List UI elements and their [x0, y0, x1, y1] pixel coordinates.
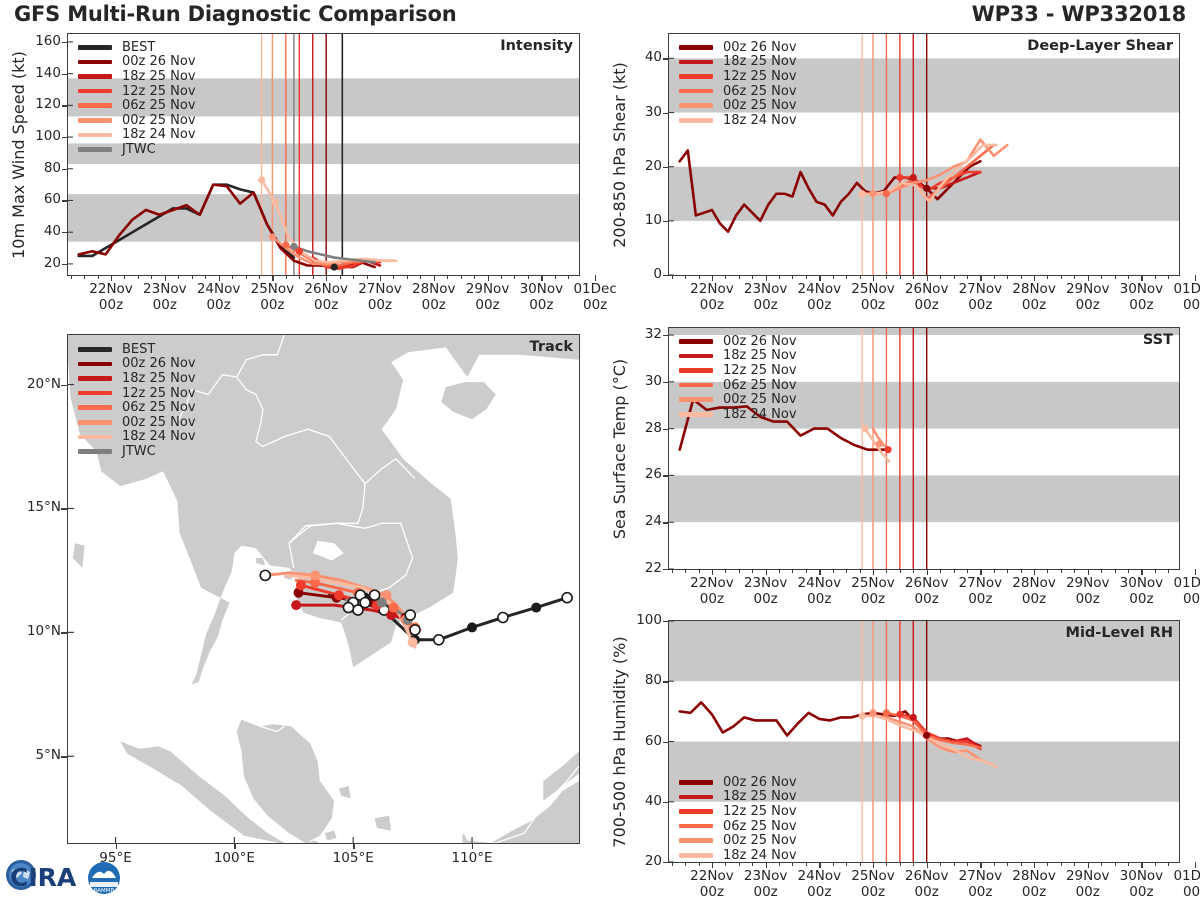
legend-label-run_00z25: 00z 25 Nov — [122, 113, 196, 128]
xtick-minor — [98, 275, 99, 279]
xtick-hour: 00z — [1160, 297, 1200, 313]
xtick-minor — [954, 569, 955, 573]
ytick-mark-sst-30 — [663, 382, 668, 383]
ytick-mark-intensity-40 — [62, 232, 67, 233]
legend-swatch-run_06z25 — [679, 89, 713, 94]
xtick-minor — [860, 275, 861, 279]
legend-row-run_00z25: 00z 25 Nov — [78, 415, 196, 430]
xtick-minor — [792, 275, 793, 279]
map-lon-tickmark-110 — [472, 843, 473, 849]
legend-row-run_12z25: 12z 25 Nov — [78, 84, 196, 99]
ytick-mark-intensity-140 — [62, 74, 67, 75]
xtick-minor — [407, 275, 408, 279]
xtick-minor — [124, 275, 125, 279]
xtick-minor — [1115, 569, 1116, 573]
xtick-minor — [913, 275, 914, 279]
xtick-minor — [967, 275, 968, 279]
legend-swatch-run_18z25 — [78, 74, 112, 79]
legend-swatch-run_18z25 — [679, 60, 713, 65]
xtick-hour: 00z — [560, 297, 630, 313]
ytick-mark-sst-24 — [663, 522, 668, 523]
xtick-minor — [994, 862, 995, 866]
ytick-label-rh-20: 20 — [620, 853, 662, 869]
ytick-mark-intensity-160 — [62, 42, 67, 43]
ytick-mark-sst-28 — [663, 429, 668, 430]
legend-swatch-run_18z24 — [679, 118, 713, 123]
track-marker-best-1 — [531, 603, 541, 613]
map-lat-label-10: 10°N — [5, 623, 61, 639]
legend-label-run_06z25: 06z 25 Nov — [122, 400, 196, 415]
xtick-minor — [685, 275, 686, 279]
legend-label-run_00z25: 00z 25 Nov — [723, 98, 797, 113]
legend-row-run_18z25: 18z 25 Nov — [679, 349, 797, 364]
legend-row-run_18z25: 18z 25 Nov — [679, 55, 797, 70]
track-marker-open-5 — [343, 603, 353, 613]
legend-label-best: BEST — [122, 342, 155, 357]
xtick-minor — [806, 569, 807, 573]
xtick-minor — [1021, 862, 1022, 866]
legend-label-run_12z25: 12z 25 Nov — [723, 69, 797, 84]
data-marker-5 — [290, 243, 297, 250]
track-marker-best-4 — [434, 635, 444, 645]
legend-label-best: BEST — [122, 40, 155, 55]
xtick-minor — [299, 275, 300, 279]
legend-swatch-run_12z25 — [78, 89, 112, 94]
data-marker-3 — [896, 174, 903, 181]
legend-label-run_00z26: 00z 26 Nov — [122, 356, 196, 371]
legend-label-run_00z26: 00z 26 Nov — [723, 40, 797, 55]
legend-label-run_00z26: 00z 26 Nov — [723, 334, 797, 349]
legend-swatch-run_18z24 — [679, 853, 713, 858]
legend-swatch-run_00z26 — [679, 45, 713, 50]
data-marker-4 — [910, 714, 917, 721]
legend-label-run_06z25: 06z 25 Nov — [723, 84, 797, 99]
legend-swatch-run_00z25 — [78, 118, 112, 123]
ytick-label-sst-32: 32 — [620, 326, 662, 342]
ytick-mark-intensity-80 — [62, 169, 67, 170]
yaxis-label-intensity: 10m Max Wind Speed (kt) — [9, 51, 28, 259]
xtick-date: 01Dec — [560, 281, 630, 297]
legend-swatch-run_00z26 — [679, 339, 713, 344]
xtick-minor — [447, 275, 448, 279]
legend-label-run_18z24: 18z 24 Nov — [723, 113, 797, 128]
xtick-minor — [1007, 569, 1008, 573]
legend-swatch-run_12z25 — [679, 368, 713, 373]
yaxis-label-rh: 700-500 hPa Humidity (%) — [610, 636, 629, 847]
legend-swatch-run_12z25 — [679, 74, 713, 79]
ytick-label-intensity-160: 160 — [19, 33, 61, 49]
xtick-minor — [900, 862, 901, 866]
legend-label-run_06z25: 06z 25 Nov — [122, 98, 196, 113]
xtick-minor — [954, 275, 955, 279]
legend-row-run_00z25: 00z 25 Nov — [679, 833, 797, 848]
ytick-mark-rh-20 — [663, 862, 668, 863]
map-lat-tickmark-5 — [61, 756, 67, 757]
xtick-minor — [779, 569, 780, 573]
xtick-minor — [313, 275, 314, 279]
xtick-minor — [860, 862, 861, 866]
track-marker-12z-25-nov-1 — [334, 590, 344, 600]
yaxis-label-shear: 200-850 hPa Shear (kt) — [610, 62, 629, 248]
xtick-minor — [886, 275, 887, 279]
xtick-minor — [367, 275, 368, 279]
xtick-minor — [1061, 569, 1062, 573]
legend-swatch-run_00z25 — [679, 397, 713, 402]
data-marker-2 — [883, 190, 890, 197]
legend-label-run_18z25: 18z 25 Nov — [122, 69, 196, 84]
ytick-mark-shear-20 — [663, 167, 668, 168]
xtick-minor — [699, 275, 700, 279]
xtick-minor — [672, 862, 673, 866]
legend-label-run_18z24: 18z 24 Nov — [723, 407, 797, 422]
data-marker-6 — [331, 263, 338, 270]
ytick-mark-shear-30 — [663, 113, 668, 114]
xtick-minor — [1061, 275, 1062, 279]
legend-swatch-run_06z25 — [679, 383, 713, 388]
legend-row-run_12z25: 12z 25 Nov — [679, 363, 797, 378]
xtick-minor — [353, 275, 354, 279]
xtick-minor — [246, 275, 247, 279]
xtick-minor — [1128, 862, 1129, 866]
legend-label-run_00z25: 00z 25 Nov — [723, 392, 797, 407]
legend-label-run_06z25: 06z 25 Nov — [723, 819, 797, 834]
data-marker-1 — [271, 198, 278, 205]
data-marker-4 — [296, 248, 303, 255]
legend-row-run_12z25: 12z 25 Nov — [679, 804, 797, 819]
xtick-minor — [886, 862, 887, 866]
map-lon-label-105: 105°E — [318, 850, 388, 866]
legend-label-run_00z25: 00z 25 Nov — [122, 415, 196, 430]
legend-swatch-run_00z26 — [679, 780, 713, 785]
ytick-label-shear-0: 0 — [620, 266, 662, 282]
legend-swatch-run_00z26 — [78, 362, 112, 367]
shaded-band-0 — [68, 194, 579, 242]
data-marker-1 — [869, 709, 876, 716]
xtick-minor — [779, 275, 780, 279]
xtick-minor — [178, 275, 179, 279]
xtick-minor — [259, 275, 260, 279]
track-marker-18z-25-nov-2 — [291, 600, 301, 610]
legend-row-run_00z26: 00z 26 Nov — [78, 357, 196, 372]
ytick-mark-intensity-20 — [62, 264, 67, 265]
xtick-minor — [420, 275, 421, 279]
track-marker-00z-25-nov-2 — [310, 570, 320, 580]
legend-label-run_00z26: 00z 26 Nov — [122, 54, 196, 69]
xtick-minor — [71, 275, 72, 279]
legend-row-run_00z26: 00z 26 Nov — [679, 334, 797, 349]
xtick-date: 01Dec — [1160, 281, 1200, 297]
data-marker-2 — [883, 709, 890, 716]
xtick-minor — [900, 569, 901, 573]
xtick-minor — [514, 275, 515, 279]
legend-row-run_12z25: 12z 25 Nov — [78, 386, 196, 401]
legend-label-run_00z25: 00z 25 Nov — [723, 833, 797, 848]
xtick-minor — [1047, 569, 1048, 573]
xtick-minor — [752, 275, 753, 279]
data-marker-3 — [282, 241, 289, 248]
xtick-minor — [833, 862, 834, 866]
legend-row-run_06z25: 06z 25 Nov — [679, 819, 797, 834]
track-marker-open-4 — [353, 605, 363, 615]
ytick-mark-sst-32 — [663, 335, 668, 336]
xtick-minor — [994, 569, 995, 573]
ytick-mark-shear-10 — [663, 221, 668, 222]
legend-row-jtwc: JTWC — [78, 142, 196, 157]
legend-label-run_12z25: 12z 25 Nov — [723, 804, 797, 819]
legend-swatch-run_00z25 — [78, 420, 112, 425]
data-marker-5 — [923, 732, 930, 739]
xtick-minor — [461, 275, 462, 279]
legend-label-run_18z24: 18z 24 Nov — [723, 848, 797, 863]
legend-swatch-run_00z25 — [679, 103, 713, 108]
legend-swatch-run_00z26 — [78, 60, 112, 65]
ytick-mark-rh-60 — [663, 742, 668, 743]
xtick-minor — [151, 275, 152, 279]
xtick-minor — [806, 275, 807, 279]
xtick-minor — [1155, 862, 1156, 866]
xtick-minor — [739, 275, 740, 279]
rammb-label: RAMMB — [94, 888, 115, 894]
xtick-minor — [192, 275, 193, 279]
panel-shear-title: Deep-Layer Shear — [1027, 38, 1173, 54]
xtick-hour: 00z — [1160, 884, 1200, 900]
xtick-minor — [886, 569, 887, 573]
xtick-minor — [725, 275, 726, 279]
ytick-label-sst-22: 22 — [620, 560, 662, 576]
legend-shear: 00z 26 Nov18z 25 Nov12z 25 Nov06z 25 Nov… — [679, 40, 797, 128]
data-marker-0 — [258, 176, 265, 183]
legend-label-jtwc: JTWC — [122, 444, 156, 459]
xtick-minor — [1021, 569, 1022, 573]
xtick-minor — [860, 569, 861, 573]
xtick-minor — [393, 275, 394, 279]
legend-label-run_12z25: 12z 25 Nov — [122, 386, 196, 401]
panel-sst-title: SST — [1143, 332, 1173, 348]
xtick-minor — [940, 569, 941, 573]
xtick-minor — [1115, 862, 1116, 866]
map-lat-tickmark-20 — [61, 385, 67, 386]
xtick-minor — [568, 275, 569, 279]
xtick-minor — [833, 569, 834, 573]
cira-wordmark: CIRA — [10, 863, 77, 892]
ytick-mark-intensity-60 — [62, 200, 67, 201]
ytick-mark-intensity-120 — [62, 105, 67, 106]
xtick-minor — [940, 862, 941, 866]
legend-label-run_18z25: 18z 25 Nov — [723, 789, 797, 804]
legend-row-run_18z24: 18z 24 Nov — [78, 128, 196, 143]
track-marker-best-0 — [562, 593, 572, 603]
legend-label-run_06z25: 06z 25 Nov — [723, 378, 797, 393]
xtick-minor — [752, 569, 753, 573]
legend-row-best: BEST — [78, 342, 196, 357]
xtick-minor — [1074, 862, 1075, 866]
xtick-minor — [1007, 862, 1008, 866]
legend-swatch-run_18z25 — [679, 795, 713, 800]
track-marker-open-0 — [370, 590, 380, 600]
xtick-minor — [685, 569, 686, 573]
xtick-label-sst-9: 01Dec00z — [1160, 575, 1200, 607]
ytick-mark-sst-22 — [663, 569, 668, 570]
xtick-minor — [474, 275, 475, 279]
yaxis-label-sst: Sea Surface Temp (°C) — [610, 358, 629, 538]
legend-swatch-run_12z25 — [679, 809, 713, 814]
legend-row-run_18z25: 18z 25 Nov — [78, 371, 196, 386]
data-marker-0 — [859, 712, 866, 719]
xtick-label-rh-9: 01Dec00z — [1160, 868, 1200, 900]
ytick-mark-rh-40 — [663, 802, 668, 803]
xtick-minor — [1047, 862, 1048, 866]
legend-row-run_00z26: 00z 26 Nov — [78, 55, 196, 70]
legend-label-run_12z25: 12z 25 Nov — [122, 84, 196, 99]
legend-row-run_00z26: 00z 26 Nov — [679, 40, 797, 55]
xtick-minor — [792, 569, 793, 573]
xtick-minor — [138, 275, 139, 279]
xtick-minor — [967, 862, 968, 866]
xtick-minor — [1074, 569, 1075, 573]
xtick-minor — [1155, 275, 1156, 279]
data-marker-0 — [861, 425, 868, 432]
legend-rh: 00z 26 Nov18z 25 Nov12z 25 Nov06z 25 Nov… — [679, 775, 797, 863]
legend-row-run_18z24: 18z 24 Nov — [679, 407, 797, 422]
xtick-minor — [846, 275, 847, 279]
legend-row-run_00z25: 00z 25 Nov — [78, 113, 196, 128]
data-marker-1 — [876, 440, 883, 447]
xtick-minor — [846, 569, 847, 573]
xtick-minor — [528, 275, 529, 279]
ytick-mark-intensity-100 — [62, 137, 67, 138]
legend-label-run_18z25: 18z 25 Nov — [122, 371, 196, 386]
xtick-minor — [1115, 275, 1116, 279]
xtick-minor — [1061, 862, 1062, 866]
map-lat-label-20: 20°N — [5, 376, 61, 392]
legend-label-run_00z26: 00z 26 Nov — [723, 775, 797, 790]
xtick-minor — [940, 275, 941, 279]
track-marker-00z-25-nov-3 — [260, 570, 270, 580]
xtick-label-intensity-9: 01Dec00z — [560, 281, 630, 313]
track-marker-06z-25-nov-1 — [389, 603, 399, 613]
data-marker-0 — [859, 190, 866, 197]
legend-swatch-run_06z25 — [679, 824, 713, 829]
legend-label-run_12z25: 12z 25 Nov — [723, 363, 797, 378]
legend-row-run_06z25: 06z 25 Nov — [679, 84, 797, 99]
xtick-minor — [900, 275, 901, 279]
map-lon-label-100: 100°E — [199, 850, 269, 866]
legend-swatch-run_12z25 — [78, 391, 112, 396]
xtick-minor — [1021, 275, 1022, 279]
legend-row-run_18z24: 18z 24 Nov — [78, 430, 196, 445]
shaded-band-0 — [669, 475, 1179, 522]
track-marker-open-6 — [405, 610, 415, 620]
xtick-minor — [1155, 569, 1156, 573]
cira-logo: CIRA RAMMB — [4, 848, 126, 898]
legend-swatch-run_18z24 — [679, 412, 713, 417]
xtick-minor — [699, 569, 700, 573]
xtick-minor — [232, 275, 233, 279]
map-lat-tickmark-10 — [61, 632, 67, 633]
legend-row-run_18z24: 18z 24 Nov — [679, 113, 797, 128]
map-lon-tickmark-100 — [234, 843, 235, 849]
legend-intensity: BEST00z 26 Nov18z 25 Nov12z 25 Nov06z 25… — [78, 40, 196, 157]
legend-label-jtwc: JTWC — [122, 142, 156, 157]
storm-id-title: WP33 - WP332018 — [972, 2, 1186, 26]
legend-swatch-run_06z25 — [78, 405, 112, 410]
map-lat-label-15: 15°N — [5, 499, 61, 515]
xtick-minor — [501, 275, 502, 279]
xtick-minor — [1168, 569, 1169, 573]
legend-row-jtwc: JTWC — [78, 444, 196, 459]
ytick-mark-shear-0 — [663, 275, 668, 276]
legend-swatch-run_18z24 — [78, 435, 112, 440]
panel-intensity-title: Intensity — [500, 38, 573, 54]
legend-sst: 00z 26 Nov18z 25 Nov12z 25 Nov06z 25 Nov… — [679, 334, 797, 422]
ytick-label-rh-100: 100 — [620, 612, 662, 628]
data-marker-1 — [869, 190, 876, 197]
xtick-minor — [1101, 569, 1102, 573]
xtick-minor — [672, 569, 673, 573]
xtick-date: 01Dec — [1160, 575, 1200, 591]
legend-row-run_06z25: 06z 25 Nov — [78, 400, 196, 415]
legend-swatch-best — [78, 45, 112, 50]
legend-label-run_18z24: 18z 24 Nov — [122, 127, 196, 142]
xtick-minor — [913, 862, 914, 866]
legend-label-run_18z25: 18z 25 Nov — [723, 348, 797, 363]
xtick-minor — [833, 275, 834, 279]
map-lat-label-5: 5°N — [5, 747, 61, 763]
legend-row-run_06z25: 06z 25 Nov — [679, 378, 797, 393]
legend-swatch-run_00z25 — [679, 838, 713, 843]
legend-swatch-run_18z25 — [78, 376, 112, 381]
legend-row-run_00z25: 00z 25 Nov — [679, 98, 797, 113]
xtick-minor — [725, 569, 726, 573]
track-marker-best-2 — [498, 612, 508, 622]
xtick-minor — [672, 275, 673, 279]
data-marker-4 — [910, 174, 917, 181]
xtick-date: 01Dec — [1160, 868, 1200, 884]
legend-label-run_18z25: 18z 25 Nov — [723, 54, 797, 69]
xtick-minor — [84, 275, 85, 279]
legend-swatch-run_18z25 — [679, 354, 713, 359]
map-lat-tickmark-15 — [61, 508, 67, 509]
data-marker-2 — [884, 446, 891, 453]
xtick-minor — [555, 275, 556, 279]
page-title: GFS Multi-Run Diagnostic Comparison — [14, 2, 456, 26]
xtick-minor — [1168, 862, 1169, 866]
xtick-hour: 00z — [1160, 591, 1200, 607]
xtick-minor — [954, 862, 955, 866]
ytick-mark-rh-80 — [663, 681, 668, 682]
xtick-minor — [1047, 275, 1048, 279]
legend-swatch-run_06z25 — [78, 103, 112, 108]
xtick-minor — [1128, 569, 1129, 573]
xtick-minor — [994, 275, 995, 279]
track-marker-18z-24-nov-0 — [408, 637, 418, 647]
legend-row-run_06z25: 06z 25 Nov — [78, 98, 196, 113]
legend-row-run_00z26: 00z 26 Nov — [679, 775, 797, 790]
legend-swatch-jtwc — [78, 147, 112, 152]
track-marker-best-3 — [467, 622, 477, 632]
xtick-minor — [739, 569, 740, 573]
legend-track: BEST00z 26 Nov18z 25 Nov12z 25 Nov06z 25… — [78, 342, 196, 459]
legend-row-run_18z25: 18z 25 Nov — [679, 790, 797, 805]
legend-row-run_00z25: 00z 25 Nov — [679, 392, 797, 407]
legend-row-run_12z25: 12z 25 Nov — [679, 69, 797, 84]
legend-row-best: BEST — [78, 40, 196, 55]
ytick-mark-sst-26 — [663, 475, 668, 476]
panel-track-title: Track — [530, 339, 573, 355]
xtick-minor — [1101, 862, 1102, 866]
track-marker-12z-25-nov-2 — [296, 580, 306, 590]
legend-row-run_18z24: 18z 24 Nov — [679, 848, 797, 863]
